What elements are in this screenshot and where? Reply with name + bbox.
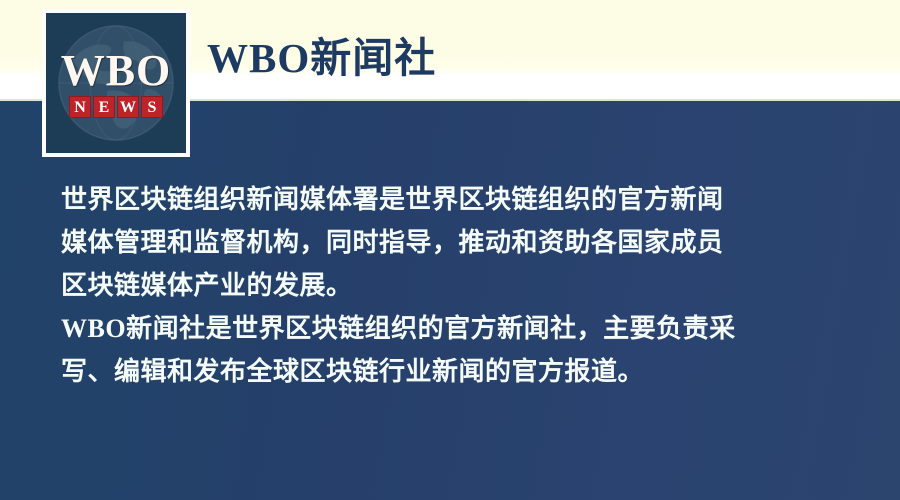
paragraph-1-line-3: 区块链媒体产业的发展。: [61, 264, 861, 307]
logo-news-letter-s: S: [141, 96, 163, 118]
logo-news-letter-e: E: [93, 96, 115, 118]
logo-wordmark: WBO: [61, 49, 172, 93]
logo-news-badges: N E W S: [61, 96, 172, 118]
paragraph-1-line-1: 世界区块链组织新闻媒体署是世界区块链组织的官方新闻: [61, 178, 861, 221]
logo-lockup: WBO N E W S: [61, 49, 172, 118]
wbo-news-logo[interactable]: WBO N E W S: [42, 9, 190, 157]
logo-news-letter-n: N: [69, 96, 91, 118]
slide-root: WBO N E W S WBO新闻社 世界区块链组织新闻媒体署是世界区块链组织的…: [0, 0, 900, 500]
paragraph-2-line-1: WBO新闻社是世界区块链组织的官方新闻社，主要负责采: [61, 307, 861, 350]
logo-news-letter-w: W: [117, 96, 139, 118]
site-title: WBO新闻社: [207, 38, 436, 79]
paragraph-1-line-2: 媒体管理和监督机构，同时指导，推动和资助各国家成员: [61, 221, 861, 264]
paragraph-2-line-2: 写、编辑和发布全球区块链行业新闻的官方报道。: [61, 350, 861, 393]
body-copy: 世界区块链组织新闻媒体署是世界区块链组织的官方新闻 媒体管理和监督机构，同时指导…: [61, 178, 861, 393]
logo-inner-panel: WBO N E W S: [46, 13, 186, 153]
